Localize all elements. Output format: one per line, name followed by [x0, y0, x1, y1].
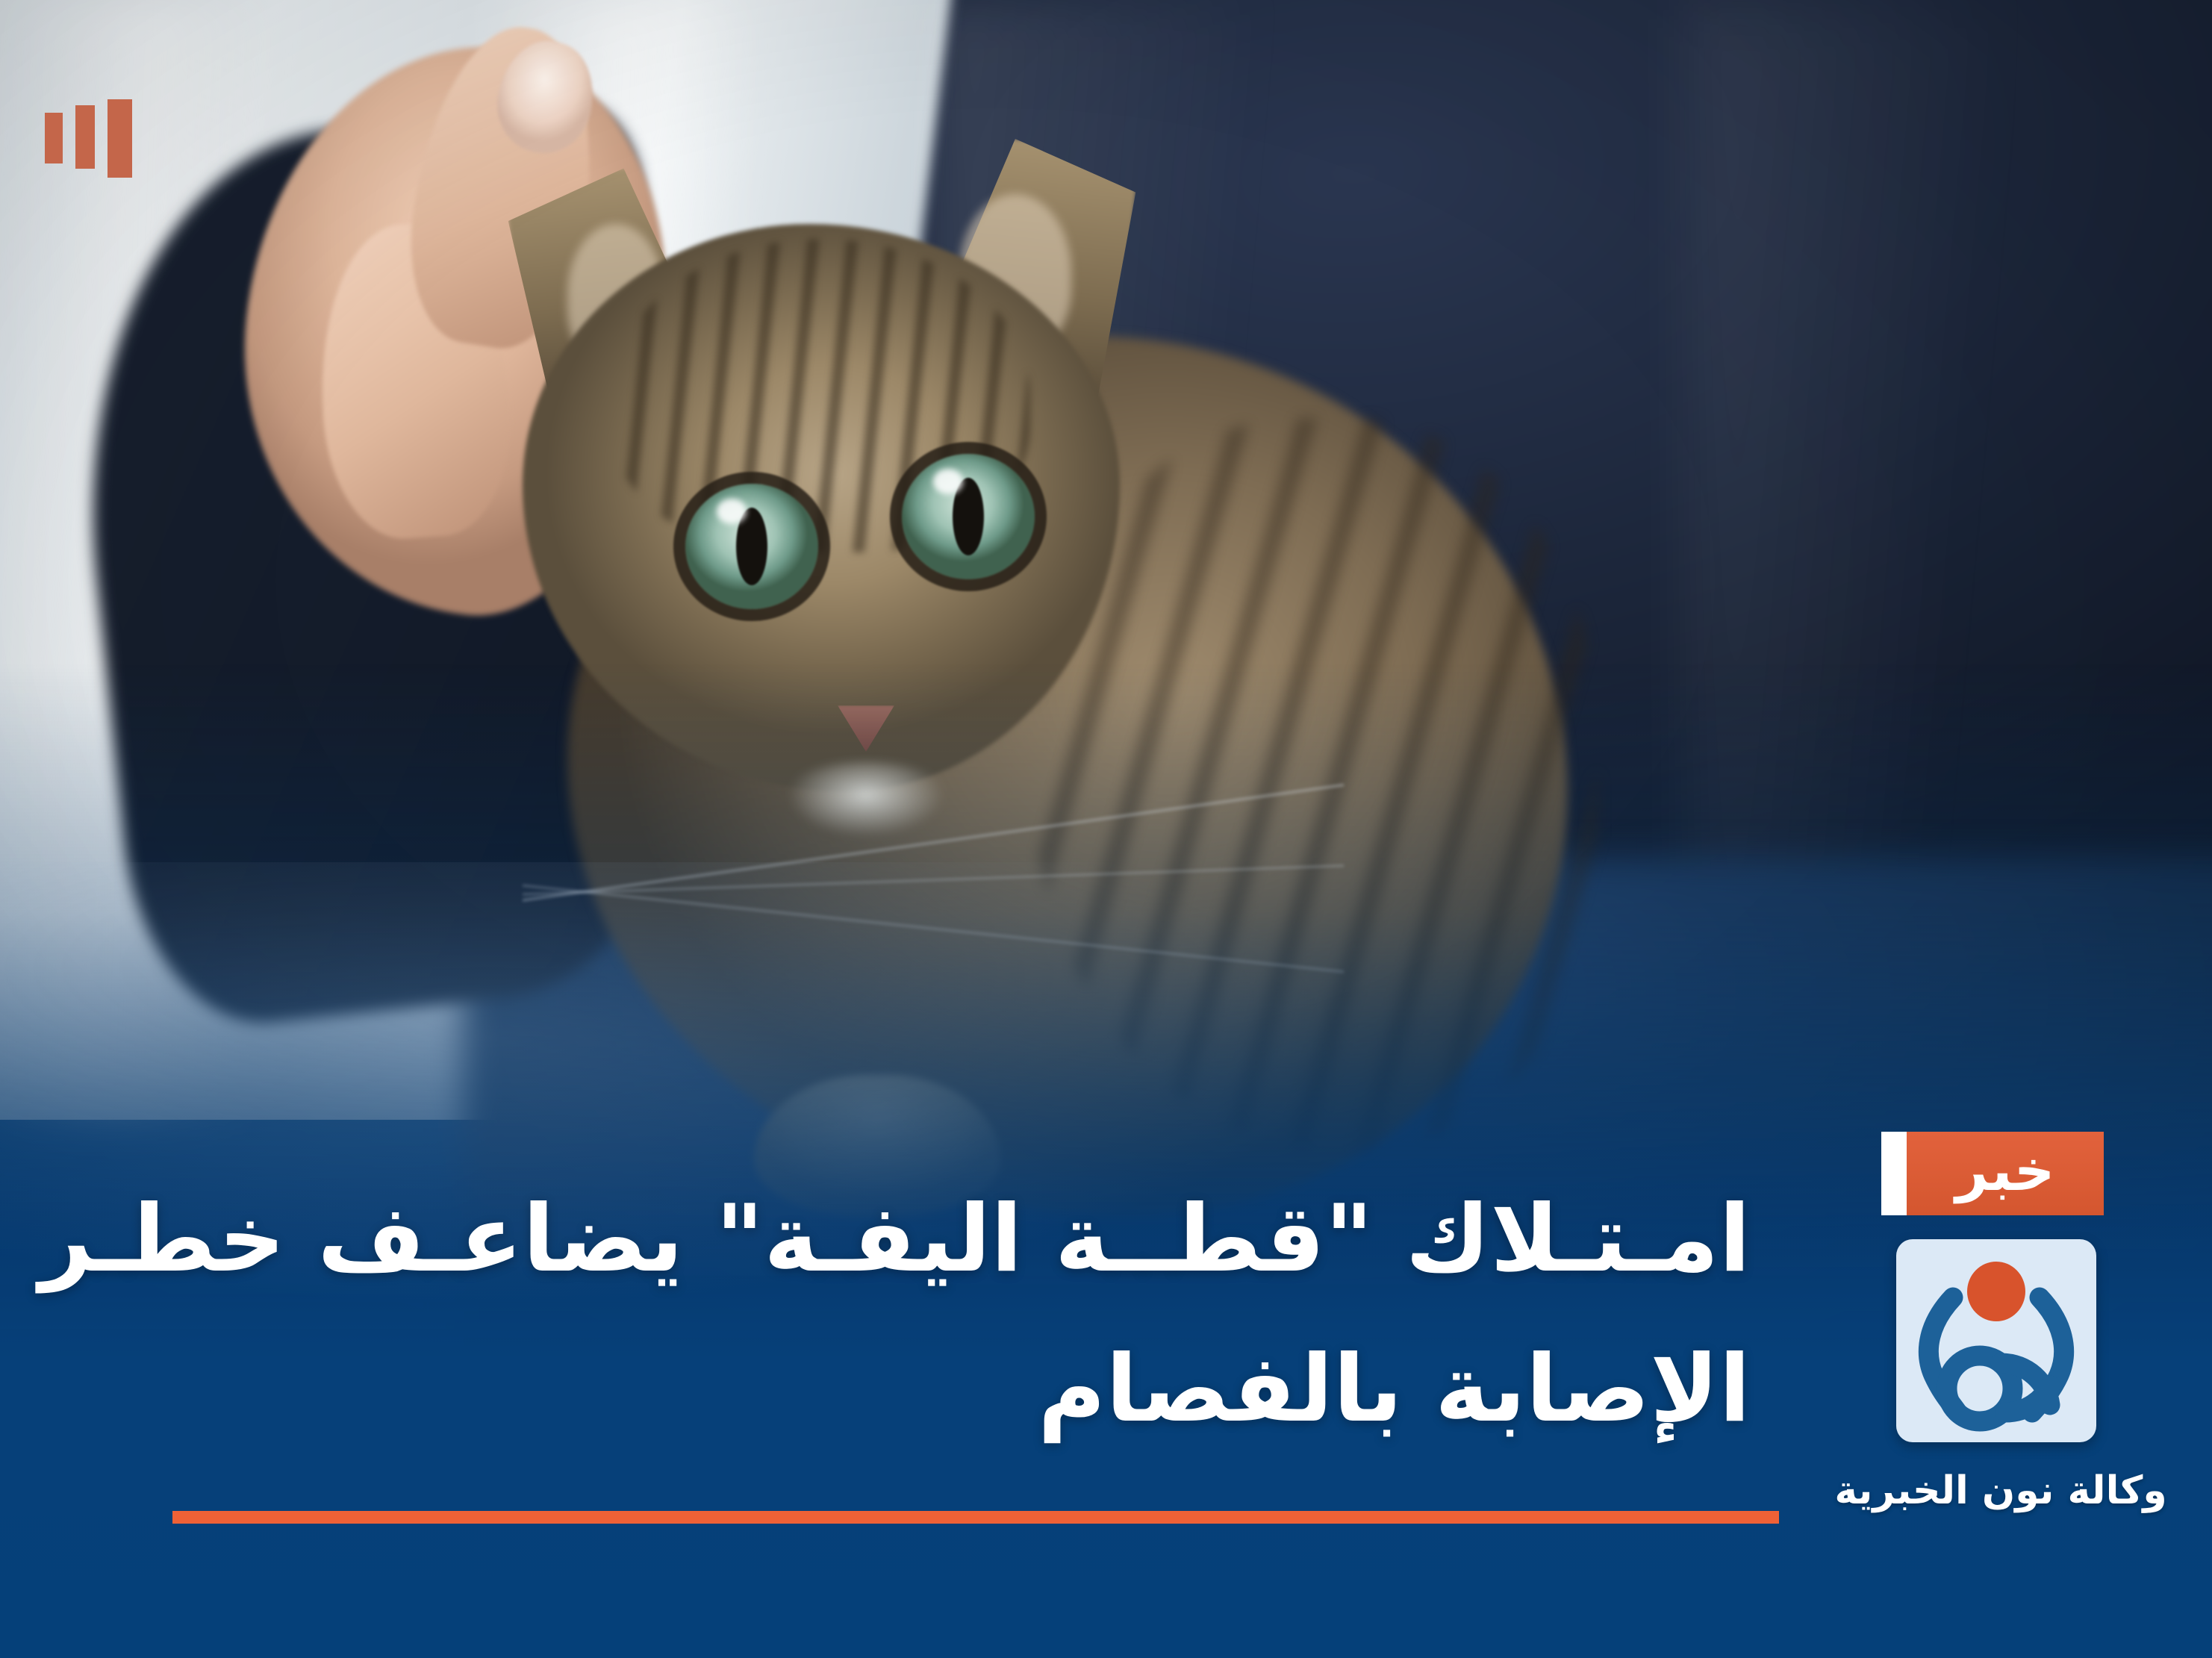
news-card: امـتـلاك "قطــة اليفـة" يضاعـف خطـر الإص… [0, 0, 2212, 1658]
bar-1 [108, 99, 132, 178]
agency-name: وكالة نون الخبرية [1807, 1467, 2195, 1515]
headline: امـتـلاك "قطــة اليفـة" يضاعـف خطـر الإص… [172, 1165, 1751, 1465]
news-badge-white-tab [1881, 1132, 1907, 1215]
bar-3 [45, 113, 63, 163]
news-badge-label: خبر [1955, 1142, 2054, 1205]
news-badge: خبر [1881, 1132, 2104, 1215]
bar-2 [75, 105, 95, 169]
news-badge-fill: خبر [1907, 1132, 2104, 1215]
agency-logo-icon [1896, 1239, 2096, 1442]
headline-line-1: امـتـلاك "قطــة اليفـة" يضاعـف خطـر [172, 1165, 1751, 1315]
orange-divider [172, 1511, 1779, 1524]
three-bars-icon [45, 99, 132, 178]
logo-figure-icon [1896, 1239, 2096, 1442]
headline-line-2: الإصابة بالفصام [172, 1315, 1751, 1465]
